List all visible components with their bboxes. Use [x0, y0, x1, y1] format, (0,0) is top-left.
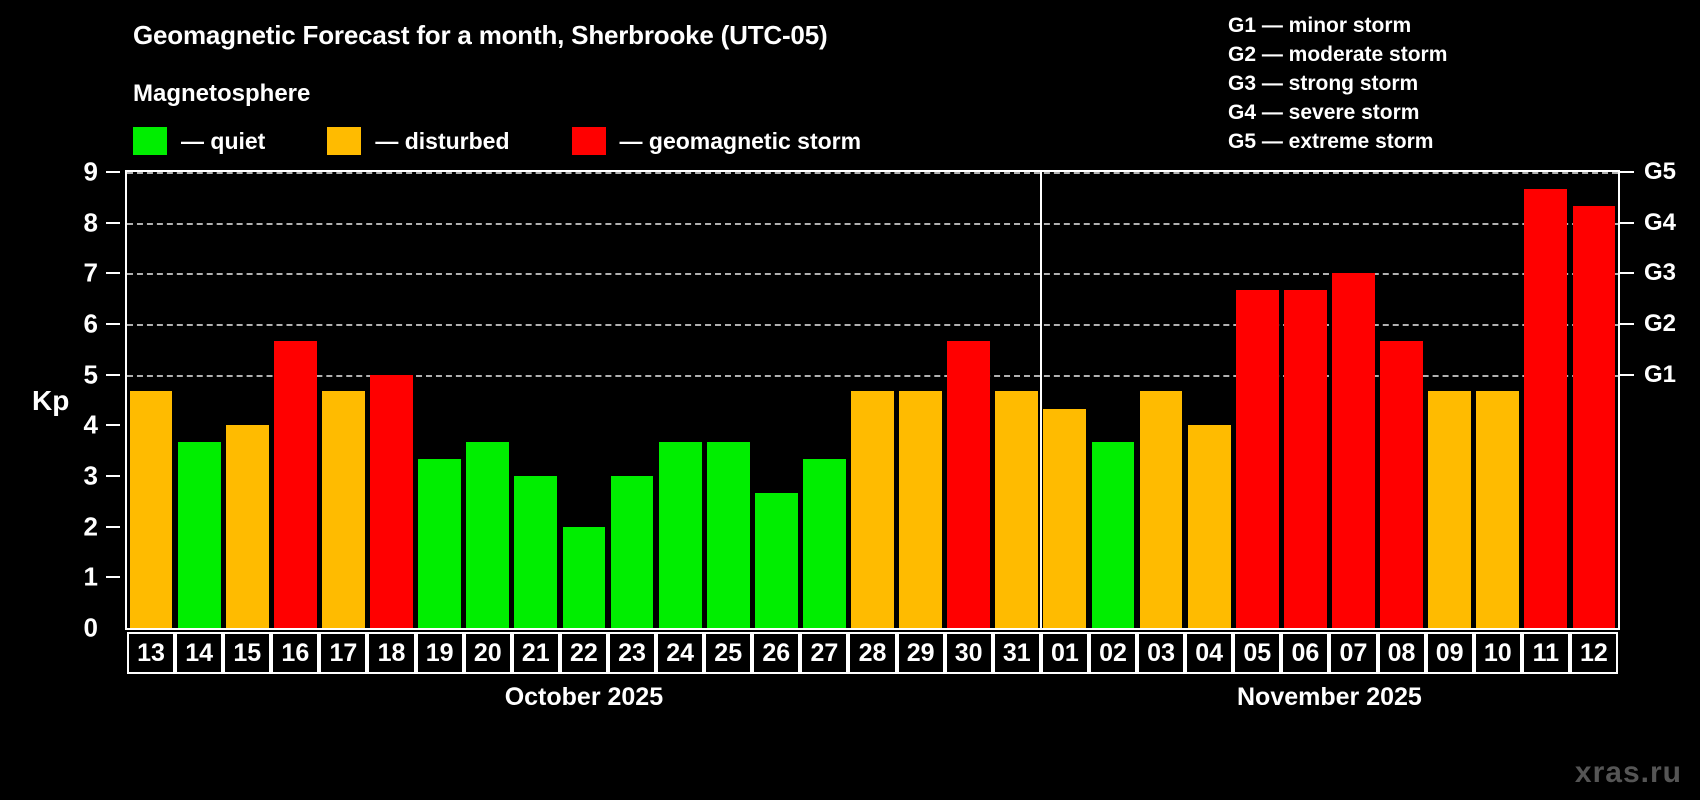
bar-08[interactable] [1380, 341, 1423, 628]
month-label: October 2025 [505, 683, 663, 712]
day-label-10[interactable]: 10 [1474, 632, 1522, 674]
y-tick-label-8: 8 [84, 207, 98, 238]
legend-item-disturbed: — disturbed [327, 127, 509, 155]
day-label-15[interactable]: 15 [223, 632, 271, 674]
bar-09[interactable] [1428, 391, 1471, 628]
bar-27[interactable] [803, 459, 846, 628]
g-scale-row-1: G1 — minor storm [1228, 11, 1447, 40]
g-tick-label-G4: G4 [1644, 209, 1676, 237]
y-tick-mark-1 [106, 576, 120, 578]
bar-23[interactable] [611, 476, 654, 628]
bar-19[interactable] [418, 459, 461, 628]
day-label-22[interactable]: 22 [560, 632, 608, 674]
month-separator [1040, 172, 1042, 628]
g-axis: G1G2G3G4G5 [1620, 170, 1700, 630]
g-tick-label-G2: G2 [1644, 310, 1676, 338]
bar-12[interactable] [1573, 206, 1616, 628]
day-label-11[interactable]: 11 [1522, 632, 1570, 674]
y-tick-label-5: 5 [84, 359, 98, 390]
legend-item-storm: — geomagnetic storm [572, 127, 862, 155]
g-scale-row-2: G2 — moderate storm [1228, 40, 1447, 69]
day-label-07[interactable]: 07 [1329, 632, 1377, 674]
bar-20[interactable] [466, 442, 509, 628]
day-label-16[interactable]: 16 [271, 632, 319, 674]
g-scale-row-4: G4 — severe storm [1228, 98, 1447, 127]
y-tick-mark-7 [106, 272, 120, 274]
bar-14[interactable] [178, 442, 221, 628]
y-tick-label-4: 4 [84, 410, 98, 441]
day-label-01[interactable]: 01 [1041, 632, 1089, 674]
y-tick-label-3: 3 [84, 461, 98, 492]
y-tick-mark-8 [106, 222, 120, 224]
geomagnetic-forecast-chart: Geomagnetic Forecast for a month, Sherbr… [0, 0, 1700, 800]
bar-22[interactable] [563, 527, 606, 628]
g-scale-row-5: G5 — extreme storm [1228, 127, 1447, 156]
legend-label-disturbed: — disturbed [375, 128, 509, 155]
day-label-14[interactable]: 14 [175, 632, 223, 674]
day-label-18[interactable]: 18 [367, 632, 415, 674]
legend-swatch-storm [572, 127, 606, 155]
day-label-24[interactable]: 24 [656, 632, 704, 674]
g-tick-mark-G1 [1620, 374, 1634, 376]
bar-28[interactable] [851, 391, 894, 628]
y-tick-mark-2 [106, 526, 120, 528]
day-label-08[interactable]: 08 [1378, 632, 1426, 674]
page-title: Geomagnetic Forecast for a month, Sherbr… [133, 20, 827, 51]
day-label-31[interactable]: 31 [993, 632, 1041, 674]
day-label-02[interactable]: 02 [1089, 632, 1137, 674]
y-tick-label-6: 6 [84, 309, 98, 340]
bar-13[interactable] [130, 391, 173, 628]
day-label-19[interactable]: 19 [416, 632, 464, 674]
bar-17[interactable] [322, 391, 365, 628]
bar-26[interactable] [755, 493, 798, 628]
day-label-28[interactable]: 28 [848, 632, 896, 674]
x-axis-day-labels: 1314151617181920212223242526272829303101… [125, 632, 1620, 674]
bar-02[interactable] [1092, 442, 1135, 628]
g-tick-mark-G5 [1620, 171, 1634, 173]
g-tick-mark-G2 [1620, 323, 1634, 325]
bar-05[interactable] [1236, 290, 1279, 628]
day-label-21[interactable]: 21 [512, 632, 560, 674]
day-label-04[interactable]: 04 [1185, 632, 1233, 674]
g-tick-label-G3: G3 [1644, 259, 1676, 287]
y-tick-label-7: 7 [84, 258, 98, 289]
bar-30[interactable] [947, 341, 990, 628]
bar-07[interactable] [1332, 273, 1375, 628]
legend-swatch-quiet [133, 127, 167, 155]
bar-31[interactable] [995, 391, 1038, 628]
day-label-17[interactable]: 17 [319, 632, 367, 674]
legend: — quiet— disturbed— geomagnetic storm [133, 127, 923, 155]
bar-01[interactable] [1043, 409, 1086, 628]
legend-item-quiet: — quiet [133, 127, 265, 155]
bar-15[interactable] [226, 425, 269, 628]
bar-series [127, 172, 1618, 628]
bar-25[interactable] [707, 442, 750, 628]
chart-subtitle: Magnetosphere [133, 80, 310, 108]
g-scale-legend: G1 — minor stormG2 — moderate stormG3 — … [1228, 11, 1447, 156]
bar-04[interactable] [1188, 425, 1231, 628]
bar-16[interactable] [274, 341, 317, 628]
day-label-03[interactable]: 03 [1137, 632, 1185, 674]
day-label-20[interactable]: 20 [464, 632, 512, 674]
day-label-30[interactable]: 30 [945, 632, 993, 674]
g-tick-mark-G4 [1620, 222, 1634, 224]
day-label-06[interactable]: 06 [1281, 632, 1329, 674]
legend-swatch-disturbed [327, 127, 361, 155]
legend-label-storm: — geomagnetic storm [620, 128, 862, 155]
day-label-23[interactable]: 23 [608, 632, 656, 674]
bar-06[interactable] [1284, 290, 1327, 628]
g-tick-label-G1: G1 [1644, 361, 1676, 389]
day-label-09[interactable]: 09 [1426, 632, 1474, 674]
y-tick-mark-5 [106, 374, 120, 376]
day-label-05[interactable]: 05 [1233, 632, 1281, 674]
y-tick-label-1: 1 [84, 562, 98, 593]
y-tick-label-9: 9 [84, 157, 98, 188]
y-tick-label-0: 0 [84, 613, 98, 644]
y-tick-mark-6 [106, 323, 120, 325]
bar-24[interactable] [659, 442, 702, 628]
y-tick-mark-4 [106, 424, 120, 426]
bar-03[interactable] [1140, 391, 1183, 628]
legend-label-quiet: — quiet [181, 128, 265, 155]
y-tick-mark-9 [106, 171, 120, 173]
bar-10[interactable] [1476, 391, 1519, 628]
bar-29[interactable] [899, 391, 942, 628]
g-tick-label-G5: G5 [1644, 158, 1676, 186]
g-tick-mark-G3 [1620, 272, 1634, 274]
day-label-13[interactable]: 13 [127, 632, 175, 674]
y-tick-label-2: 2 [84, 511, 98, 542]
plot-area [125, 170, 1620, 630]
day-label-26[interactable]: 26 [752, 632, 800, 674]
day-label-12[interactable]: 12 [1570, 632, 1618, 674]
bar-21[interactable] [514, 476, 557, 628]
watermark: xras.ru [1575, 756, 1682, 790]
day-label-29[interactable]: 29 [897, 632, 945, 674]
bar-11[interactable] [1524, 189, 1567, 628]
day-label-25[interactable]: 25 [704, 632, 752, 674]
month-label: November 2025 [1237, 683, 1422, 712]
y-axis-title: Kp [32, 385, 69, 417]
day-label-27[interactable]: 27 [800, 632, 848, 674]
bar-18[interactable] [370, 375, 413, 628]
g-scale-row-3: G3 — strong storm [1228, 69, 1447, 98]
y-tick-mark-3 [106, 475, 120, 477]
